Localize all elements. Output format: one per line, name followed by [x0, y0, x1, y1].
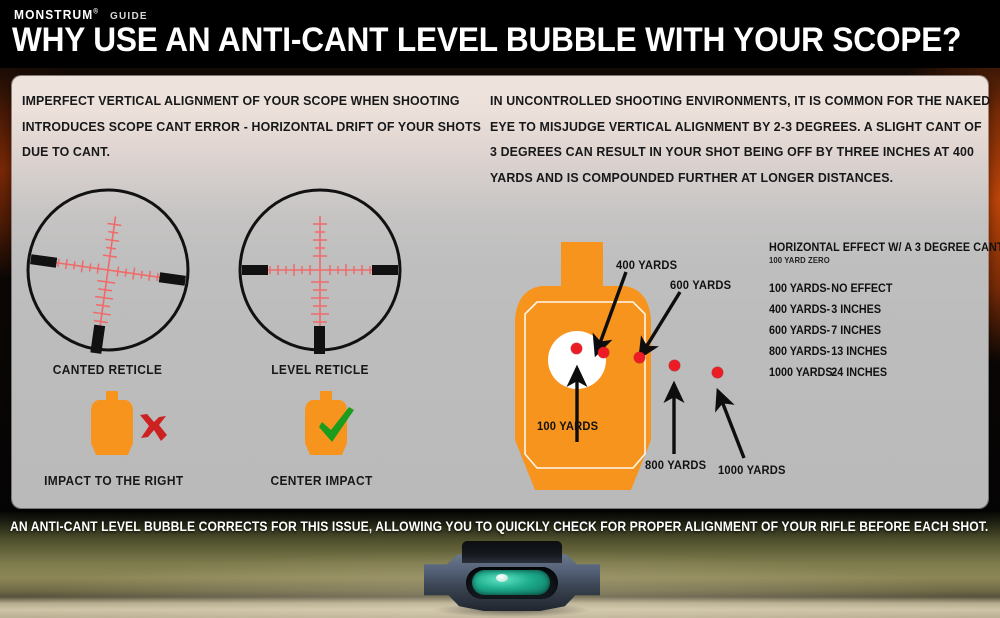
label-1000-yards: 1000 YARDS [718, 463, 786, 477]
table-row: 100 YARDS- NO EFFECT [769, 282, 969, 295]
level-reticle-illustration [236, 186, 404, 354]
table-subtitle: 100 YARD ZERO [769, 255, 969, 265]
page-title: WHY USE AN ANTI-CANT LEVEL BUBBLE WITH Y… [12, 20, 961, 60]
table-row: 400 YARDS- 3 INCHES [769, 303, 969, 316]
label-800-yards: 800 YARDS [645, 458, 706, 472]
impact-dot-600-yards [634, 352, 645, 363]
impact-dot-400-yards [598, 347, 609, 358]
level-bubble [496, 574, 508, 582]
table-rows: 100 YARDS- NO EFFECT 400 YARDS- 3 INCHES… [769, 282, 984, 379]
table-cell-effect: 24 INCHES [831, 366, 887, 379]
level-scope-tube [462, 541, 562, 563]
level-vial [472, 570, 550, 595]
canted-reticle-caption: CANTED RETICLE [53, 362, 162, 377]
bubble-level-photo [424, 541, 600, 618]
table-cell-distance: 600 YARDS- [769, 324, 831, 337]
level-reticle-caption: LEVEL RETICLE [271, 362, 369, 377]
impact-right-caption: IMPACT TO THE RIGHT [44, 473, 183, 488]
table-title: HORIZONTAL EFFECT W/ A 3 DEGREE CANT [769, 241, 969, 254]
paragraph-misjudge-alignment: IN UNCONTROLLED SHOOTING ENVIRONMENTS, I… [490, 88, 992, 190]
center-impact-caption: CENTER IMPACT [270, 473, 372, 488]
table-row: 1000 YARDS- 24 INCHES [769, 366, 969, 379]
paragraph-cant-error: IMPERFECT VERTICAL ALIGNMENT OF YOUR SCO… [22, 88, 506, 165]
footer-caption-text: AN ANTI-CANT LEVEL BUBBLE CORRECTS FOR T… [10, 519, 988, 534]
infographic-canvas: MONSTRUM® GUIDE WHY USE AN ANTI-CANT LEV… [0, 0, 1000, 618]
table-cell-distance: 400 YARDS- [769, 303, 831, 316]
footer-caption: AN ANTI-CANT LEVEL BUBBLE CORRECTS FOR T… [0, 518, 1000, 536]
label-400-yards: 400 YARDS [616, 258, 677, 272]
canted-reticle-illustration [24, 186, 192, 354]
table-cell-distance: 800 YARDS- [769, 345, 831, 358]
label-100-yards: 100 YARDS [537, 419, 598, 433]
table-cell-effect: 3 INCHES [831, 303, 881, 316]
impact-dot-100-yards [571, 343, 582, 354]
label-600-yards: 600 YARDS [670, 278, 731, 292]
registered-trademark-icon: ® [93, 9, 98, 16]
impact-dot-1000-yards [712, 367, 723, 378]
table-cell-effect: NO EFFECT [831, 282, 892, 295]
table-cell-distance: 100 YARDS- [769, 282, 831, 295]
table-cell-effect: 13 INCHES [831, 345, 887, 358]
horizontal-effect-table: HORIZONTAL EFFECT W/ A 3 DEGREE CANT 100… [769, 241, 984, 387]
table-cell-effect: 7 INCHES [831, 324, 881, 337]
table-cell-distance: 1000 YARDS- [769, 366, 831, 379]
mini-target-impact-right [88, 391, 136, 459]
content-panel: IMPERFECT VERTICAL ALIGNMENT OF YOUR SCO… [12, 76, 988, 508]
x-mark-icon [136, 412, 170, 446]
impact-dot-800-yards [669, 360, 680, 371]
header-bar: MONSTRUM® GUIDE WHY USE AN ANTI-CANT LEV… [0, 0, 1000, 68]
table-row: 800 YARDS- 13 INCHES [769, 345, 969, 358]
check-mark-icon [316, 406, 356, 446]
table-row: 600 YARDS- 7 INCHES [769, 324, 969, 337]
